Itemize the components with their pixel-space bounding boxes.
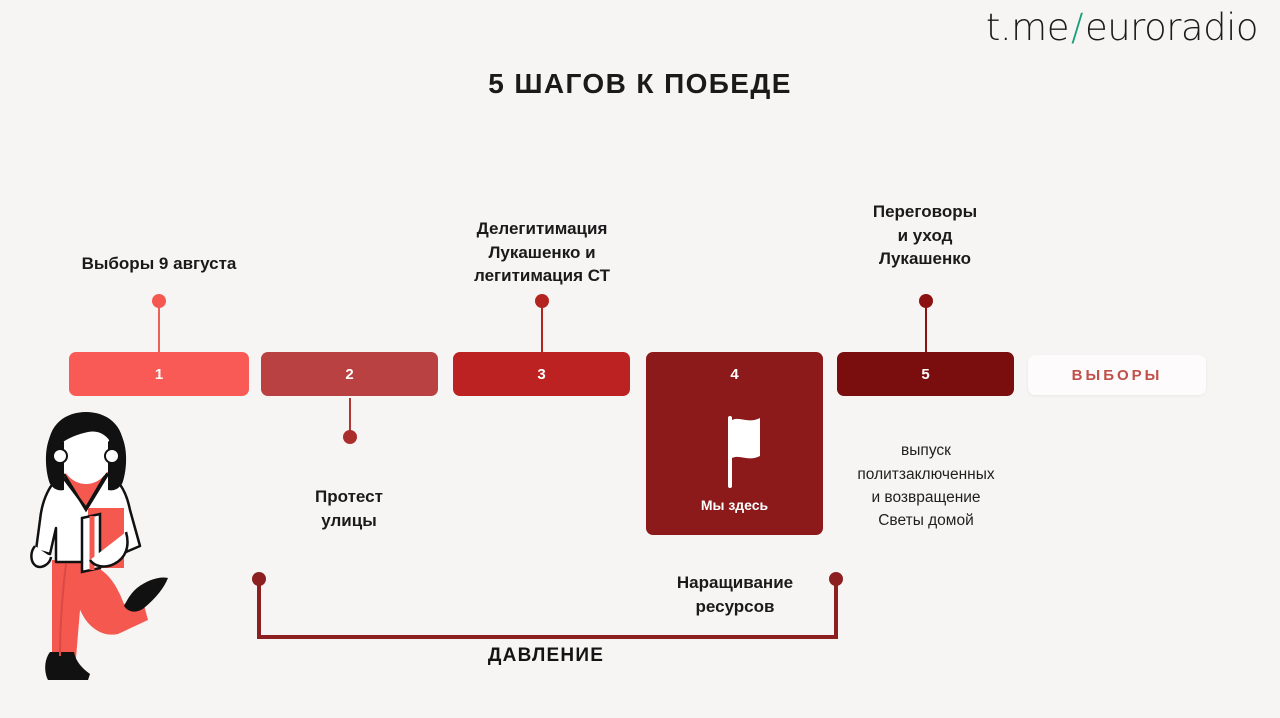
step-label-below-2: Протест улицы: [259, 462, 439, 532]
watermark-prefix: t.me: [986, 6, 1069, 49]
step-label-above-1: Выборы 9 августа: [30, 252, 288, 275]
step-number-4: 4: [646, 366, 823, 383]
step-bar-4[interactable]: 4 Мы здесь: [646, 352, 823, 535]
step-label-above-3-text: Делегитимация Лукашенко и легитимация СТ: [474, 219, 610, 285]
step-label-above-1-text: Выборы 9 августа: [82, 254, 237, 273]
we-are-here-label: Мы здесь: [646, 497, 823, 513]
connector-dot-step-3: [535, 294, 549, 308]
page-title: 5 ШАГОВ К ПОБЕДЕ: [0, 68, 1280, 100]
step-bar-3[interactable]: 3: [453, 352, 630, 396]
step-number-1: 1: [69, 366, 249, 383]
step-label-below-4: Наращивание ресурсов: [635, 548, 835, 618]
step-number-2: 2: [261, 366, 438, 383]
step-label-above-5: Переговоры и уход Лукашенко: [832, 177, 1018, 271]
step-label-below-2-text: Протест улицы: [315, 487, 383, 529]
infographic-canvas: t.me/euroradio 5 ШАГОВ К ПОБЕДЕ 1 2 3 4 …: [0, 0, 1280, 718]
step-bar-2[interactable]: 2: [261, 352, 438, 396]
watermark-suffix: euroradio: [1085, 6, 1258, 49]
step-label-above-5-text: Переговоры и уход Лукашенко: [873, 202, 977, 268]
step-bar-1[interactable]: 1: [69, 352, 249, 396]
step-label-above-3: Делегитимация Лукашенко и легитимация СТ: [432, 194, 652, 288]
step-label-below-5: выпуск политзаключенных и возвращение Св…: [820, 416, 1032, 532]
step-number-3: 3: [453, 366, 630, 383]
white-flag-icon: [706, 414, 764, 495]
connector-dot-step-5: [919, 294, 933, 308]
step-label-below-5-text: выпуск политзаключенных и возвращение Св…: [857, 442, 994, 529]
woman-walking-with-book-illustration: [14, 412, 189, 687]
step-label-below-4-text: Наращивание ресурсов: [677, 573, 793, 615]
pressure-label: ДАВЛЕНИЕ: [240, 645, 852, 667]
step-number-5: 5: [837, 366, 1014, 383]
elections-outcome-label: ВЫБОРЫ: [1072, 367, 1163, 384]
elections-outcome-block[interactable]: ВЫБОРЫ: [1028, 355, 1206, 395]
watermark-slash: /: [1071, 6, 1083, 49]
step-bar-5[interactable]: 5: [837, 352, 1014, 396]
watermark-euroradio: t.me/euroradio: [986, 6, 1258, 49]
connector-dot-step-2: [343, 430, 357, 444]
connector-dot-step-1: [152, 294, 166, 308]
